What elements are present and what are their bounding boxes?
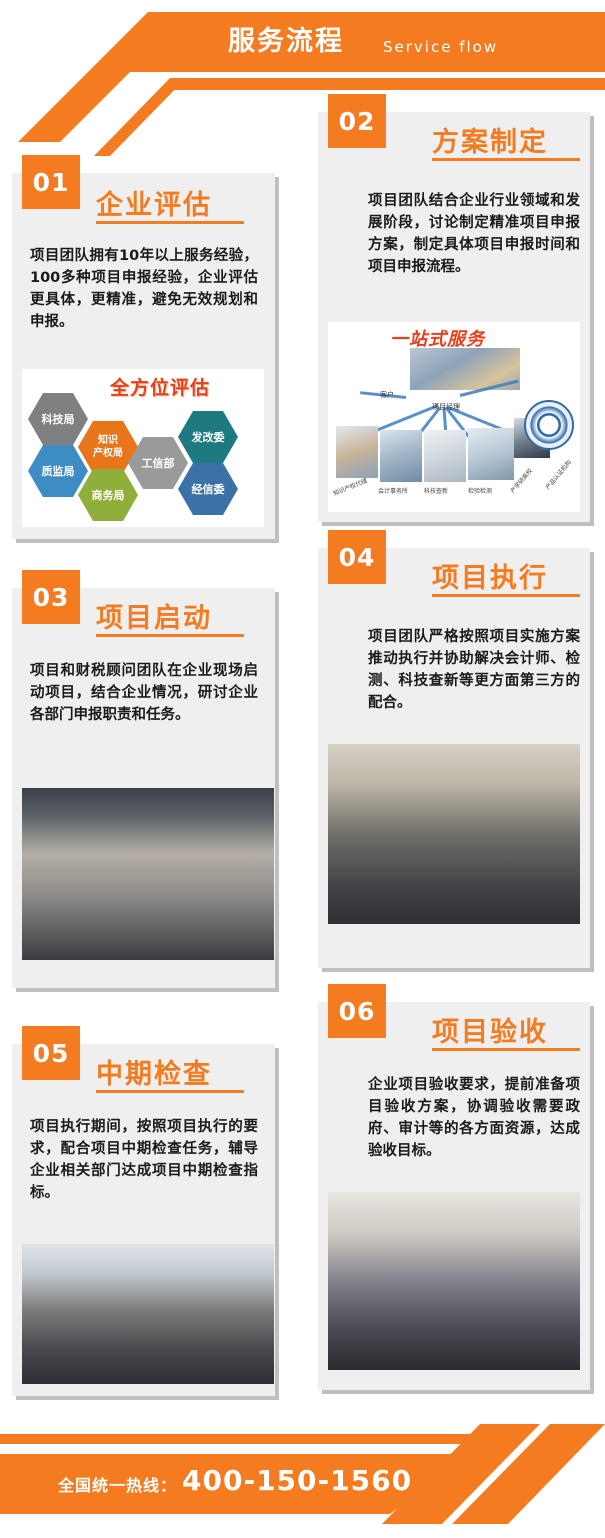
page-subtitle: Service flow xyxy=(383,32,498,62)
card-body-text: 项目团队结合企业行业领域和发展阶段，讨论制定精准项目申报方案，制定具体项目申报时… xyxy=(368,190,580,278)
thumb-accounting xyxy=(380,430,422,482)
card-body-text: 企业项目验收要求，提前准备项目验收方案，协调验收需要政府、审计等的各方面资源，达… xyxy=(368,1074,580,1162)
card-body-text: 项目团队严格按照项目实施方案推动执行并协助解决会计师、检测、科技查新等更方面第三… xyxy=(368,626,580,714)
step-number-badge: 04 xyxy=(328,530,386,584)
caption-inspection: 检验检测 xyxy=(468,486,492,495)
site-visit-photo xyxy=(22,1244,274,1384)
title-underline xyxy=(96,221,244,224)
step-number-badge: 03 xyxy=(22,570,80,624)
step-number-badge: 06 xyxy=(328,984,386,1038)
card-body-text: 项目团队拥有10年以上服务经验，100多种项目申报经验，企业评估更具体，更精准，… xyxy=(30,245,258,333)
node-customer: 客户 xyxy=(380,390,394,400)
process-card-01[interactable]: 01 企业评估 项目团队拥有10年以上服务经验，100多种项目申报经验，企业评估… xyxy=(12,173,275,539)
thumb-ip-agency xyxy=(336,426,378,478)
step-number-badge: 02 xyxy=(328,94,386,148)
card-title: 中期检查 xyxy=(96,1052,212,1091)
hex-node-jingxinwei: 经信委 xyxy=(178,463,238,515)
process-card-02[interactable]: 02 方案制定 项目团队结合企业行业领域和发展阶段，讨论制定精准项目申报方案，制… xyxy=(318,112,590,522)
card-body-text: 项目和财税顾问团队在企业现场启动项目，结合企业情况，研讨企业各部门申报职责和任务… xyxy=(30,660,258,726)
process-card-03[interactable]: 03 项目启动 项目和财税顾问团队在企业现场启动项目，结合企业情况，研讨企业各部… xyxy=(12,588,275,988)
page-title: 服务流程 xyxy=(228,20,344,64)
acceptance-meeting-photo xyxy=(328,1192,580,1370)
title-underline xyxy=(432,1048,580,1051)
card-body-text: 项目执行期间，按照项目执行的要求，配合项目中期检查任务，辅导企业相关部门达成项目… xyxy=(30,1116,258,1204)
process-card-06[interactable]: 06 项目验收 企业项目验收要求，提前准备项目验收方案，协调验收需要政府、审计等… xyxy=(318,1002,590,1390)
hex-node-gongxinbu: 工信部 xyxy=(128,437,188,489)
page-header: 服务流程 Service flow xyxy=(0,0,605,110)
hex-node-fagaiwei: 发改委 xyxy=(178,411,238,463)
hotline-number[interactable]: 400-150-1560 xyxy=(182,1464,412,1497)
iso-certification-seal xyxy=(524,400,574,450)
step-number-badge: 05 xyxy=(22,1026,80,1080)
hotline-label: 全国统一热线： xyxy=(58,1472,177,1496)
page-footer: 全国统一热线： 400-150-1560 xyxy=(0,1424,605,1538)
node-project-manager: 项目经理 xyxy=(432,402,460,412)
step-number-badge: 01 xyxy=(22,155,80,209)
card-title: 项目执行 xyxy=(432,556,548,595)
thumb-inspection xyxy=(468,428,514,480)
card-title: 方案制定 xyxy=(432,120,548,159)
hexagon-diagram-title: 全方位评估 xyxy=(110,373,210,400)
card-title: 企业评估 xyxy=(96,183,212,222)
process-card-05[interactable]: 05 中期检查 项目执行期间，按照项目执行的要求，配合项目中期检查任务，辅导企业… xyxy=(12,1044,275,1396)
caption-accounting: 会计事务所 xyxy=(378,486,408,495)
caption-tech-search: 科技查新 xyxy=(424,486,448,495)
title-underline xyxy=(432,158,580,161)
hex-node-keji: 科技局 xyxy=(28,393,88,445)
card-title: 项目启动 xyxy=(96,596,212,635)
hex-node-shangwuju: 商务局 xyxy=(78,469,138,521)
caption-ip-agency: 知识产权代理 xyxy=(332,476,369,498)
card-title: 项目验收 xyxy=(432,1010,548,1049)
process-card-04[interactable]: 04 项目执行 项目团队严格按照项目实施方案推动执行并协助解决会计师、检测、科技… xyxy=(318,548,590,968)
hex-node-zhijianju: 质监局 xyxy=(28,445,88,497)
one-stop-service-diagram: 一站式服务 客户 项目经理 知识产权代理 会计事务所 科技查新 检验检测 产学研… xyxy=(328,322,580,512)
hex-node-zhishichanquan: 知识 产权局 xyxy=(78,421,138,473)
caption-certification: 产品认证机构 xyxy=(543,458,573,491)
title-underline xyxy=(96,634,244,637)
hexagon-assessment-diagram: 全方位评估 科技局 知识 产权局 发改委 质监局 工信部 商务局 经信委 xyxy=(22,369,264,527)
title-underline xyxy=(432,594,580,597)
thumb-tech-search xyxy=(424,430,466,482)
conference-table-photo xyxy=(328,744,580,924)
title-underline xyxy=(96,1090,244,1093)
meeting-room-photo xyxy=(22,788,274,960)
